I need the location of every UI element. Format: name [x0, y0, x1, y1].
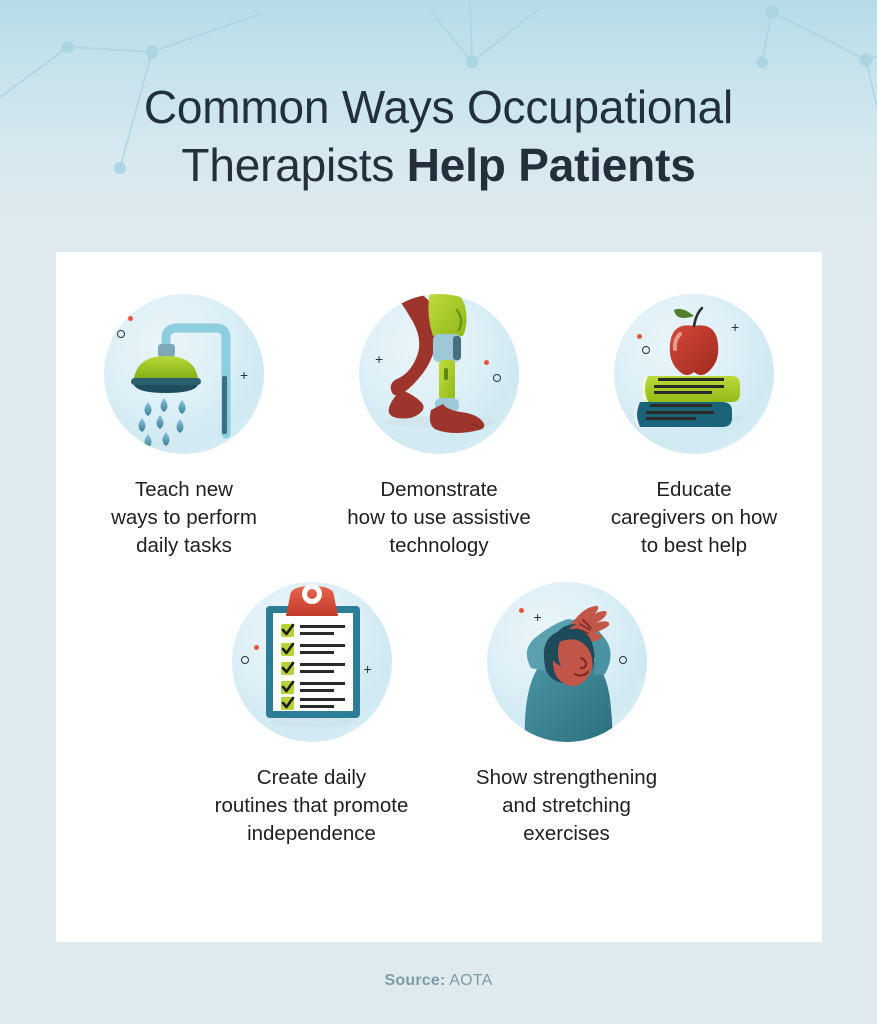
source-label: Source:: [385, 972, 446, 989]
title-line-2-bold: Help Patients: [407, 139, 696, 191]
item-daily-routines: Create daily routines that promote indep…: [184, 582, 439, 848]
decorative-ring: [241, 656, 249, 664]
source-value: AOTA: [446, 972, 493, 989]
content-card: Teach new ways to perform daily tasks: [56, 252, 822, 942]
page-title: Common Ways Occupational Therapists Help…: [0, 78, 877, 194]
decorative-plus: [534, 612, 545, 623]
title-line-1: Common Ways Occupational: [0, 78, 877, 136]
item-strengthening-exercises: Show strengthening and stretching exerci…: [439, 582, 694, 848]
item-caption: Educate caregivers on how to best help: [611, 476, 777, 560]
decorative-ring: [493, 374, 501, 382]
decorative-dot: [637, 334, 642, 339]
clipboard-checklist-icon: [232, 582, 392, 742]
item-caption: Create daily routines that promote indep…: [215, 764, 409, 848]
prosthetic-leg-icon: [359, 294, 519, 454]
decorative-dot: [519, 608, 524, 613]
shower-icon: [104, 294, 264, 454]
item-caption: Show strengthening and stretching exerci…: [476, 764, 657, 848]
item-assistive-technology: Demonstrate how to use assistive technol…: [312, 294, 567, 560]
item-teach-daily-tasks: Teach new ways to perform daily tasks: [57, 294, 312, 560]
decorative-plus: [375, 354, 386, 365]
decorative-dot: [254, 645, 259, 650]
decorative-plus: [364, 664, 375, 675]
apple-books-icon: [614, 294, 774, 454]
source-attribution: Source: AOTA: [0, 972, 877, 990]
card-row-bottom: Create daily routines that promote indep…: [56, 560, 822, 848]
decorative-dot: [484, 360, 489, 365]
stretching-person-icon: [487, 582, 647, 742]
item-caption: Demonstrate how to use assistive technol…: [347, 476, 530, 560]
item-educate-caregivers: Educate caregivers on how to best help: [567, 294, 822, 560]
title-line-2: Therapists Help Patients: [0, 136, 877, 194]
decorative-ring: [642, 346, 650, 354]
title-line-2-regular: Therapists: [181, 139, 406, 191]
card-row-top: Teach new ways to perform daily tasks: [56, 252, 822, 560]
decorative-ring: [117, 330, 125, 338]
decorative-plus: [731, 322, 742, 333]
item-caption: Teach new ways to perform daily tasks: [111, 476, 257, 560]
decorative-ring: [619, 656, 627, 664]
decorative-dot: [128, 316, 133, 321]
decorative-plus: [240, 370, 251, 381]
